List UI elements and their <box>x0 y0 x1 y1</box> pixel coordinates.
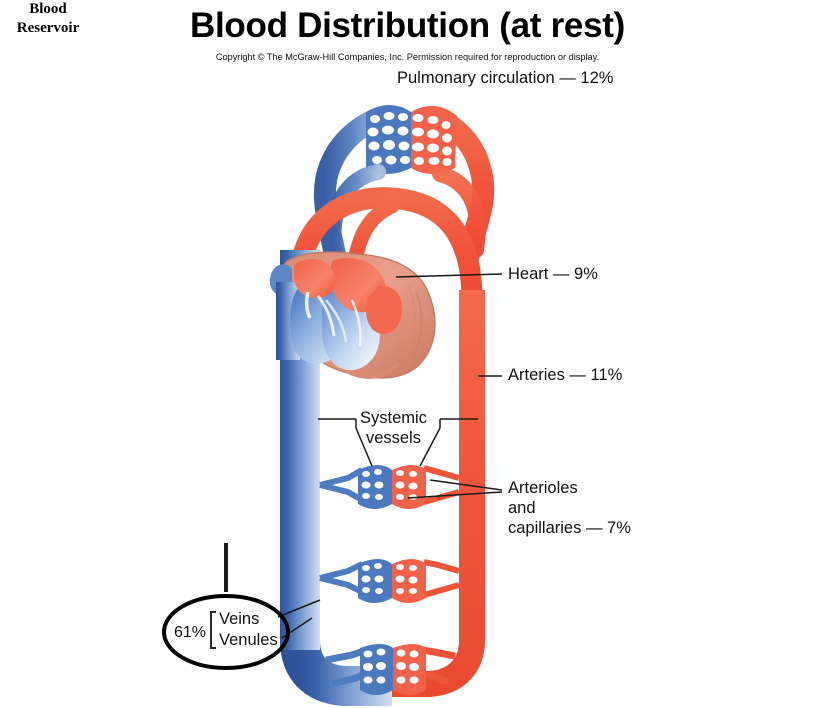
label-arteries: Arteries — 11% <box>508 365 622 385</box>
diagram-canvas: Blood Distribution (at rest) Copyright ©… <box>0 0 815 708</box>
label-pulmonary-circulation: Pulmonary circulation — 12% <box>397 68 613 88</box>
label-reservoir-percent: 61% <box>174 623 206 643</box>
pulmonary-capillary-bed <box>366 105 457 174</box>
systemic-capillary-bed-upper <box>320 465 459 509</box>
circulatory-diagram <box>0 0 815 708</box>
heart-illustration <box>270 252 435 379</box>
veins-bracket <box>211 612 216 648</box>
label-veins-venules: Veins Venules <box>219 609 278 651</box>
label-heart: Heart — 9% <box>508 264 598 284</box>
label-arterioles-capillaries: Arterioles and capillaries — 7% <box>508 478 631 538</box>
label-systemic-vessels: Systemic vessels <box>360 408 427 448</box>
systemic-capillary-bed-middle <box>320 559 459 603</box>
